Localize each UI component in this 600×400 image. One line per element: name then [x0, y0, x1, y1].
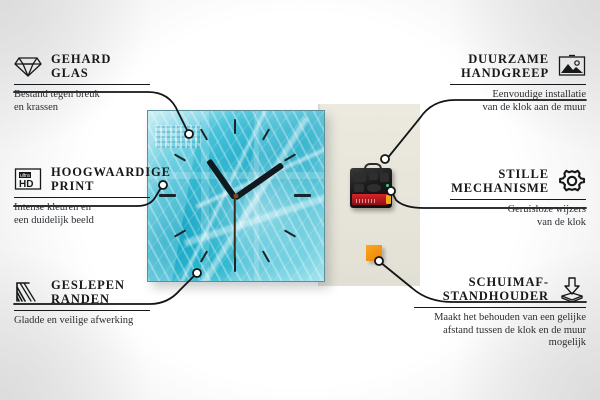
feature-title: HOOGWAARDIGE PRINT	[51, 165, 171, 193]
press-down-icon	[558, 276, 586, 302]
hour-tick	[234, 257, 236, 272]
gear-icon	[558, 168, 586, 194]
hour-tick	[159, 194, 176, 197]
battery-label	[356, 199, 376, 203]
feature-divider	[450, 199, 586, 200]
feature-divider	[14, 310, 150, 311]
infographic-canvas: GEHARD GLAS Bestand tegen breuk en krass…	[0, 0, 600, 400]
feature-description: Intense kleuren en een duidelijk beeld	[14, 202, 150, 227]
hour-tick	[174, 229, 186, 237]
feature-header: ultra HD HOOGWAARDIGE PRINT	[14, 165, 150, 193]
movement-part	[354, 173, 366, 182]
hanger-icon	[364, 163, 382, 173]
feature-title: STILLE MECHANISME	[451, 167, 549, 195]
feature-description: Bestand tegen breuk en krassen	[14, 89, 150, 114]
feature-gehard-glas[interactable]: GEHARD GLAS Bestand tegen breuk en krass…	[14, 52, 150, 114]
feature-header: STILLE MECHANISME	[450, 167, 586, 195]
feature-description: Geruisloze wijzers van de klok	[450, 204, 586, 229]
movement-part	[367, 184, 381, 192]
feature-stille-mechanisme[interactable]: STILLE MECHANISME Geruisloze wijzers van…	[450, 167, 586, 229]
feature-header: GEHARD GLAS	[14, 52, 150, 80]
feature-hoogwaardige-print[interactable]: ultra HD HOOGWAARDIGE PRINT Intense kleu…	[14, 165, 150, 227]
picture-frame-icon	[558, 54, 586, 78]
hand-center-cap	[234, 194, 239, 199]
feature-description: Eenvoudige installatie van de klok aan d…	[450, 89, 586, 114]
second-hand	[234, 197, 236, 259]
feature-title: GEHARD GLAS	[51, 52, 111, 80]
diamond-icon	[14, 54, 42, 78]
feature-title: SCHUIMAF- STANDHOUDER	[443, 275, 549, 303]
movement-part	[380, 173, 389, 182]
feature-divider	[14, 197, 150, 198]
feature-header: SCHUIMAF- STANDHOUDER	[414, 275, 586, 303]
feature-title: DUURZAME HANDGREEP	[461, 52, 549, 80]
feature-schuimafstandhouder[interactable]: SCHUIMAF- STANDHOUDER Maakt het behouden…	[414, 275, 586, 350]
feature-divider	[14, 84, 150, 85]
indicator-led	[386, 184, 389, 187]
feature-header: DUURZAME HANDGREEP	[450, 52, 586, 80]
battery-terminal	[386, 195, 391, 204]
feature-header: GESLEPEN RANDEN	[14, 278, 150, 306]
feature-description: Gladde en veilige afwerking	[14, 315, 150, 328]
svg-text:HD: HD	[19, 179, 33, 190]
beveled-edges-icon	[14, 280, 42, 304]
feature-description: Maakt het behouden van een gelijke afsta…	[414, 312, 586, 350]
hour-tick	[174, 153, 186, 161]
hour-tick	[294, 194, 311, 197]
feature-divider	[414, 307, 586, 308]
feature-geslepen-randen[interactable]: GESLEPEN RANDEN Gladde en veilige afwerk…	[14, 278, 150, 328]
printed-texture-block	[155, 125, 201, 149]
hour-tick	[284, 229, 296, 237]
feature-duurzame-handgreep[interactable]: DUURZAME HANDGREEP Eenvoudige installati…	[450, 52, 586, 114]
movement-part	[369, 173, 378, 180]
feature-title: GESLEPEN RANDEN	[51, 278, 125, 306]
hour-tick	[262, 250, 270, 262]
feature-divider	[450, 84, 586, 85]
glass-wall-clock	[147, 110, 325, 282]
quartz-movement	[350, 168, 392, 208]
ultra-hd-icon: ultra HD	[14, 167, 42, 191]
hour-tick	[234, 119, 236, 134]
foam-spacer	[366, 245, 382, 261]
movement-part	[354, 184, 364, 192]
hour-tick	[262, 128, 270, 140]
